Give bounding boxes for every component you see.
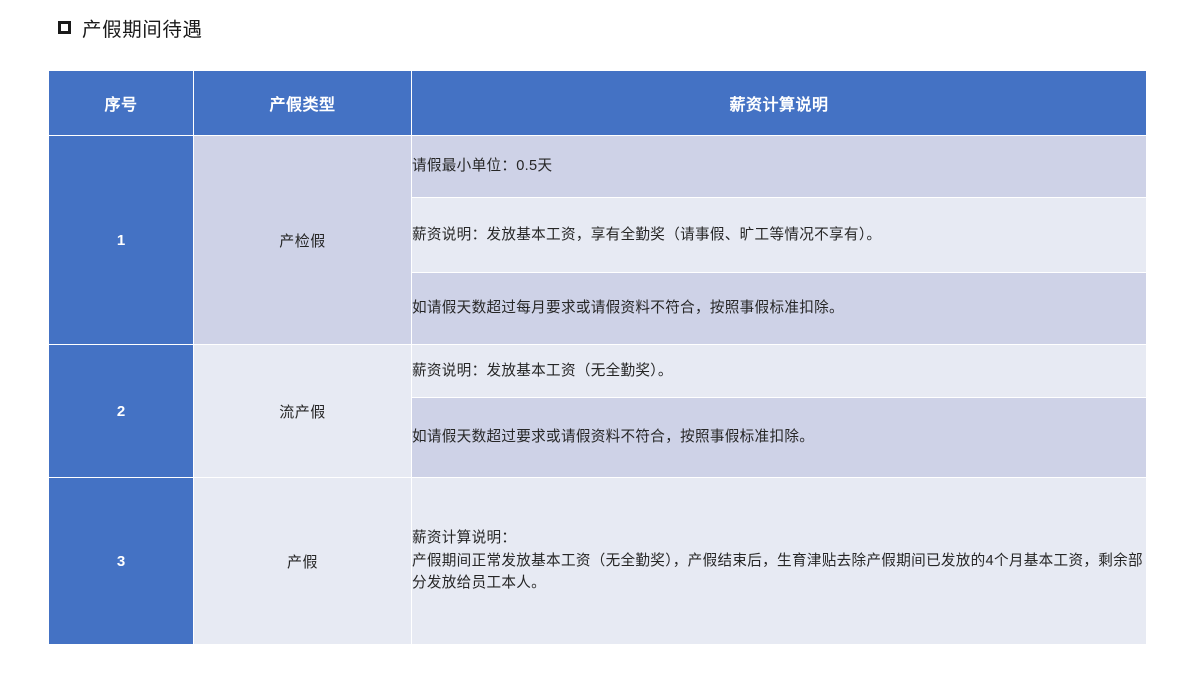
filled-square-bullet-icon	[58, 21, 71, 34]
row-index-cell: 2	[49, 345, 194, 478]
salary-description-cell: 如请假天数超过要求或请假资料不符合，按照事假标准扣除。	[412, 398, 1147, 478]
column-header-index: 序号	[49, 71, 194, 136]
slide-title: 产假期间待遇	[58, 12, 203, 42]
salary-description-cell: 请假最小单位：0.5天	[412, 136, 1147, 198]
salary-description-cell: 如请假天数超过每月要求或请假资料不符合，按照事假标准扣除。	[412, 273, 1147, 345]
leave-type-cell: 流产假	[194, 345, 412, 478]
salary-description-text: 薪资计算说明： 产假期间正常发放基本工资（无全勤奖），产假结束后，生育津贴去除产…	[412, 530, 1143, 591]
salary-description-cell: 薪资说明：发放基本工资（无全勤奖）。	[412, 345, 1147, 398]
table-header-row: 序号 产假类型 薪资计算说明	[49, 71, 1147, 136]
table-header: 序号 产假类型 薪资计算说明	[49, 71, 1147, 136]
table-row: 3产假薪资计算说明： 产假期间正常发放基本工资（无全勤奖），产假结束后，生育津贴…	[49, 478, 1147, 645]
salary-description-cell: 薪资计算说明： 产假期间正常发放基本工资（无全勤奖），产假结束后，生育津贴去除产…	[412, 478, 1147, 645]
table-row: 1产检假请假最小单位：0.5天	[49, 136, 1147, 198]
salary-description-text: 如请假天数超过每月要求或请假资料不符合，按照事假标准扣除。	[412, 300, 844, 316]
salary-description-text: 薪资说明：发放基本工资（无全勤奖）。	[412, 363, 673, 379]
salary-description-text: 请假最小单位：0.5天	[412, 158, 552, 174]
salary-description-cell: 薪资说明：发放基本工资，享有全勤奖（请事假、旷工等情况不享有）。	[412, 198, 1147, 273]
salary-description-text: 如请假天数超过要求或请假资料不符合，按照事假标准扣除。	[412, 429, 814, 445]
leave-type-cell: 产检假	[194, 136, 412, 345]
row-index-cell: 1	[49, 136, 194, 345]
table-body: 1产检假请假最小单位：0.5天薪资说明：发放基本工资，享有全勤奖（请事假、旷工等…	[49, 136, 1147, 645]
leave-policy-table: 序号 产假类型 薪资计算说明 1产检假请假最小单位：0.5天薪资说明：发放基本工…	[48, 70, 1147, 645]
column-header-type: 产假类型	[194, 71, 412, 136]
row-index-cell: 3	[49, 478, 194, 645]
column-header-desc: 薪资计算说明	[412, 71, 1147, 136]
salary-description-text: 薪资说明：发放基本工资，享有全勤奖（请事假、旷工等情况不享有）。	[412, 227, 881, 243]
page-title: 产假期间待遇	[82, 13, 203, 42]
leave-policy-table-container: 序号 产假类型 薪资计算说明 1产检假请假最小单位：0.5天薪资说明：发放基本工…	[48, 70, 1146, 645]
table-row: 2流产假薪资说明：发放基本工资（无全勤奖）。	[49, 345, 1147, 398]
leave-type-cell: 产假	[194, 478, 412, 645]
